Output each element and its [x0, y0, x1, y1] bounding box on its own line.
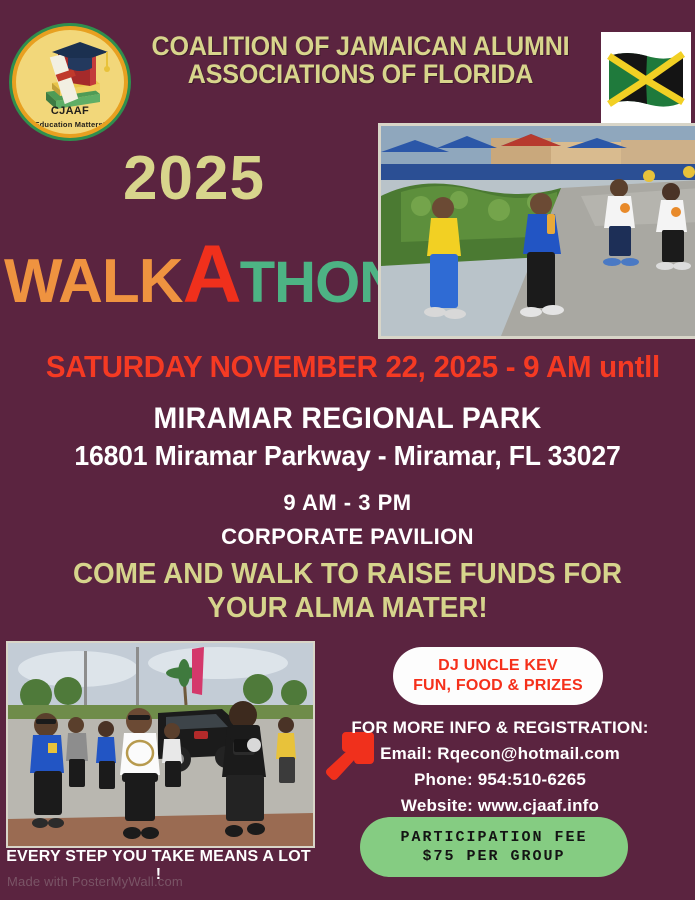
dj-badge-line2: FUN, FOOD & PRIZES	[413, 676, 583, 696]
contact-website[interactable]: Website: www.cjaaf.info	[345, 796, 655, 816]
logo-tagline: Education Matters!	[16, 120, 124, 129]
dj-badge: DJ UNCLE KEV FUN, FOOD & PRIZES	[393, 647, 603, 705]
venue-block: MIRAMAR REGIONAL PARK 16801 Miramar Park…	[20, 402, 675, 550]
call-to-action: COME AND WALK TO RAISE FUNDS FOR YOUR AL…	[52, 557, 642, 625]
graduation-cap-diploma-books-icon	[16, 30, 124, 134]
org-title-line1: COALITION OF JAMAICAN ALUMNI	[144, 32, 576, 60]
cta-line2: YOUR ALMA MATER!	[52, 591, 642, 625]
hero-photo	[378, 123, 695, 339]
walkers-photo-illustration	[381, 126, 695, 336]
venue-address: 16801 Miramar Parkway - Miramar, FL 3302…	[36, 440, 658, 472]
walkers-photographer-photo-illustration	[8, 643, 313, 846]
venue-location: CORPORATE PAVILION	[20, 524, 675, 550]
organization-title: COALITION OF JAMAICAN ALUMNI ASSOCIATION…	[144, 32, 576, 89]
org-title-line2: ASSOCIATIONS OF FLORIDA	[144, 60, 576, 88]
poster-header: CJAAF Education Matters! COALITION OF JA…	[0, 0, 695, 125]
fee-label: PARTICIPATION FEE	[400, 828, 587, 848]
venue-name: MIRAMAR REGIONAL PARK	[36, 402, 658, 436]
contact-email[interactable]: Email: Rqecon@hotmail.com	[345, 744, 655, 764]
venue-hours: 9 AM - 3 PM	[20, 490, 675, 516]
event-title: WALKATHON	[4, 228, 380, 322]
walkathon-poster: CJAAF Education Matters! COALITION OF JA…	[0, 0, 695, 900]
event-date-line: SATURDAY NOVEMBER 22, 2025 - 9 AM untll	[46, 349, 649, 385]
bottom-photo	[6, 641, 315, 848]
contact-block: FOR MORE INFO & REGISTRATION: Email: Rqe…	[345, 718, 655, 816]
participation-fee-badge: PARTICIPATION FEE $75 PER GROUP	[360, 817, 628, 877]
cta-line1: COME AND WALK TO RAISE FUNDS FOR	[52, 557, 642, 591]
jamaica-flag-icon	[601, 32, 691, 124]
event-title-thon: THON	[240, 250, 400, 315]
fee-amount: $75 PER GROUP	[422, 847, 565, 867]
jamaican-flag-image	[601, 32, 691, 124]
logo-acronym: CJAAF	[16, 105, 124, 117]
contact-phone[interactable]: Phone: 954:510-6265	[345, 770, 655, 790]
event-title-a: A	[183, 229, 240, 320]
contact-heading: FOR MORE INFO & REGISTRATION:	[345, 718, 655, 738]
event-title-walk: WALK	[4, 247, 183, 316]
postermywall-watermark: Made with PosterMyWall.com	[7, 874, 183, 889]
cjaaf-logo: CJAAF Education Matters!	[12, 26, 128, 138]
event-year: 2025	[8, 143, 380, 214]
dj-badge-line1: DJ UNCLE KEV	[438, 656, 558, 676]
